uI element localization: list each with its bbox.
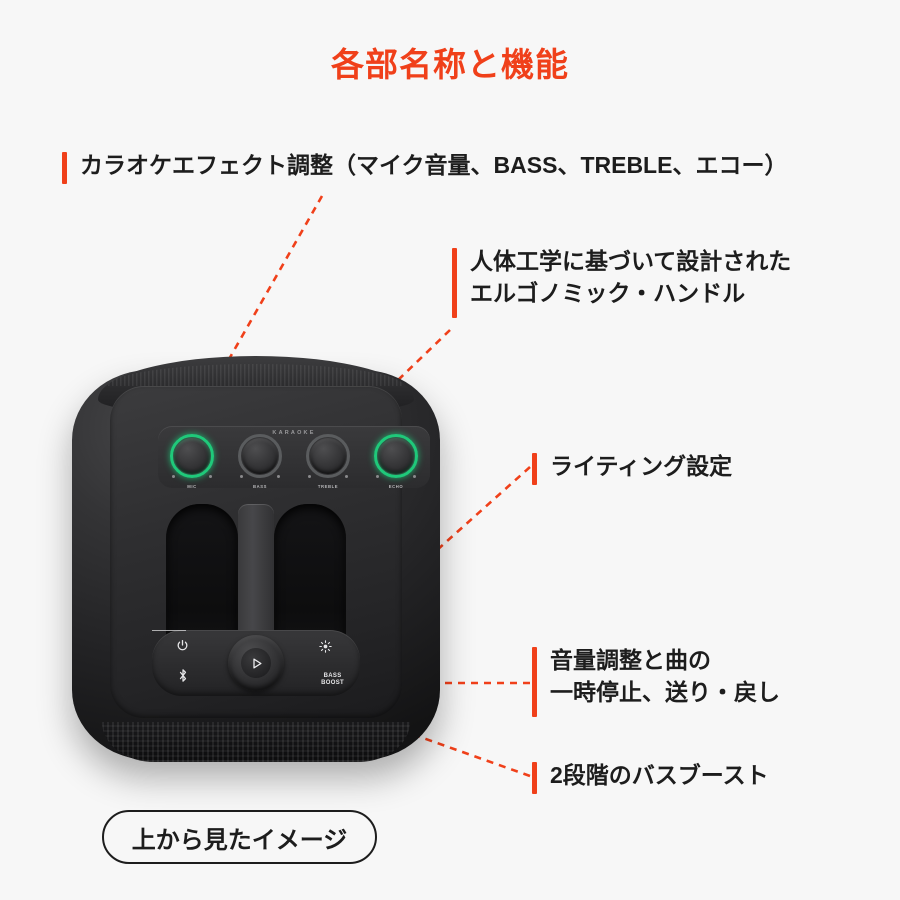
power-icon[interactable] xyxy=(176,639,189,654)
karaoke-control-panel: KARAOKE MIC BASS TR xyxy=(158,426,430,488)
light-icon[interactable] xyxy=(319,640,332,655)
annotation-bar-bassboost xyxy=(532,762,537,794)
knob-dial-mic[interactable] xyxy=(174,438,210,474)
play-icon xyxy=(249,656,264,671)
infographic-stage: 各部名称と機能 KARAOKE xyxy=(0,0,900,900)
annotation-text-bassboost: 2段階のバスブースト xyxy=(550,760,769,792)
annotation-handle-line-1: 人体工学に基づいて設計された xyxy=(470,246,791,278)
speaker-top-face: KARAOKE MIC BASS TR xyxy=(110,386,402,718)
knob-row: MIC BASS TREBLE E xyxy=(158,438,430,486)
speaker-illustration: KARAOKE MIC BASS TR xyxy=(72,352,440,772)
bass-boost-line-1: BASS xyxy=(321,673,344,679)
annotation-volume-line-2: 一時停止、送り・戻し xyxy=(550,677,780,709)
control-divider xyxy=(152,630,186,631)
annotation-bar-lighting xyxy=(532,453,537,485)
page-title: 各部名称と機能 xyxy=(0,38,900,86)
annotation-text-handle: 人体工学に基づいて設計された エルゴノミック・ハンドル xyxy=(470,246,791,309)
annotation-bar-handle xyxy=(452,248,457,318)
playback-control-cluster: BASS BOOST xyxy=(152,630,360,696)
annotation-bassboost: 2段階のバスブースト xyxy=(532,760,769,794)
speaker-bottom-grille xyxy=(102,722,410,762)
view-caption: 上から見たイメージ xyxy=(102,810,377,864)
knob-scale-bass xyxy=(240,475,280,479)
annotation-lighting: ライティング設定 xyxy=(532,451,732,485)
knob-label-mic: MIC xyxy=(187,484,196,489)
annotation-bar-karaoke xyxy=(62,152,67,184)
knob-label-echo: ECHO xyxy=(389,484,404,489)
annotation-bar-volume xyxy=(532,647,537,717)
annotation-text-volume: 音量調整と曲の 一時停止、送り・戻し xyxy=(550,645,780,708)
knob-label-bass: BASS xyxy=(253,484,267,489)
annotation-handle: 人体工学に基づいて設計された エルゴノミック・ハンドル xyxy=(452,246,791,318)
bluetooth-icon[interactable] xyxy=(177,668,189,685)
annotation-handle-line-2: エルゴノミック・ハンドル xyxy=(470,278,791,310)
knob-scale-treble xyxy=(308,475,348,479)
knob-dial-bass[interactable] xyxy=(242,438,278,474)
bass-boost-label[interactable]: BASS BOOST xyxy=(321,673,344,686)
view-caption-text: 上から見たイメージ xyxy=(132,820,348,855)
annotation-karaoke: カラオケエフェクト調整（マイク音量、BASS、TREBLE、エコー） xyxy=(62,150,787,184)
bass-boost-line-2: BOOST xyxy=(321,680,344,686)
play-pause-button[interactable] xyxy=(228,635,284,691)
knob-mic[interactable]: MIC xyxy=(166,438,218,489)
knob-echo[interactable]: ECHO xyxy=(370,438,422,489)
annotation-volume: 音量調整と曲の 一時停止、送り・戻し xyxy=(532,645,780,717)
play-button-inner[interactable] xyxy=(241,648,271,678)
knob-scale-echo xyxy=(376,475,416,479)
knob-dial-treble[interactable] xyxy=(310,438,346,474)
knob-bass[interactable]: BASS xyxy=(234,438,286,489)
knob-scale-mic xyxy=(172,475,212,479)
annotation-volume-line-1: 音量調整と曲の xyxy=(550,645,780,677)
annotation-text-lighting: ライティング設定 xyxy=(550,451,732,483)
knob-treble[interactable]: TREBLE xyxy=(302,438,354,489)
knob-label-treble: TREBLE xyxy=(318,484,338,489)
annotation-text-karaoke: カラオケエフェクト調整（マイク音量、BASS、TREBLE、エコー） xyxy=(80,150,787,182)
knob-dial-echo[interactable] xyxy=(378,438,414,474)
